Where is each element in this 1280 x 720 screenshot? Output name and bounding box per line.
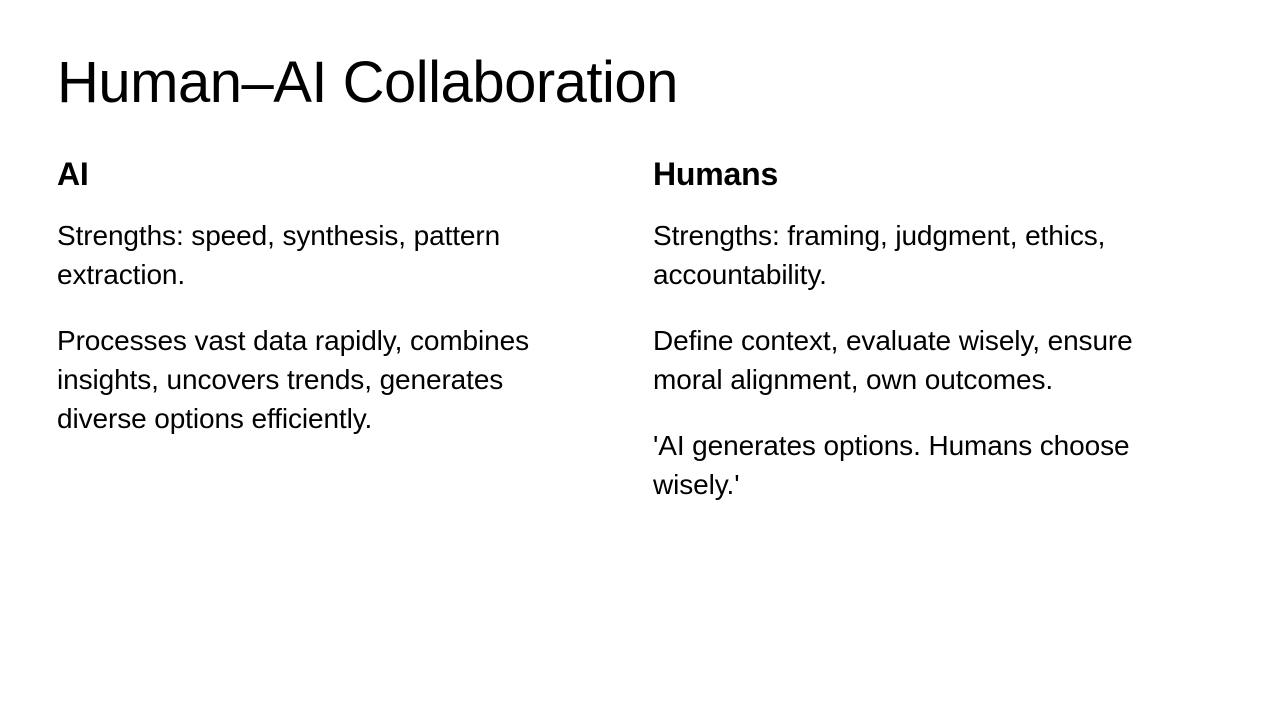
column-humans-paragraphs: Strengths: framing, judgment, ethics, ac… (653, 216, 1153, 504)
paragraph: Define context, evaluate wisely, ensure … (653, 321, 1133, 399)
paragraph: Strengths: framing, judgment, ethics, ac… (653, 216, 1133, 294)
paragraph: Processes vast data rapidly, combines in… (57, 321, 573, 438)
page-title: Human–AI Collaboration (57, 52, 678, 113)
column-heading-humans: Humans (653, 155, 778, 193)
quote-paragraph: 'AI generates options. Humans choose wis… (653, 426, 1133, 504)
column-ai: AI Strengths: speed, synthesis, pattern … (57, 155, 587, 438)
column-heading-ai: AI (57, 155, 89, 193)
column-humans: Humans Strengths: framing, judgment, eth… (653, 155, 1153, 504)
two-column-body: AI Strengths: speed, synthesis, pattern … (57, 155, 1223, 504)
paragraph: Strengths: speed, synthesis, pattern ext… (57, 216, 573, 294)
slide-canvas: Human–AI Collaboration AI Strengths: spe… (0, 0, 1280, 720)
column-ai-paragraphs: Strengths: speed, synthesis, pattern ext… (57, 216, 587, 438)
